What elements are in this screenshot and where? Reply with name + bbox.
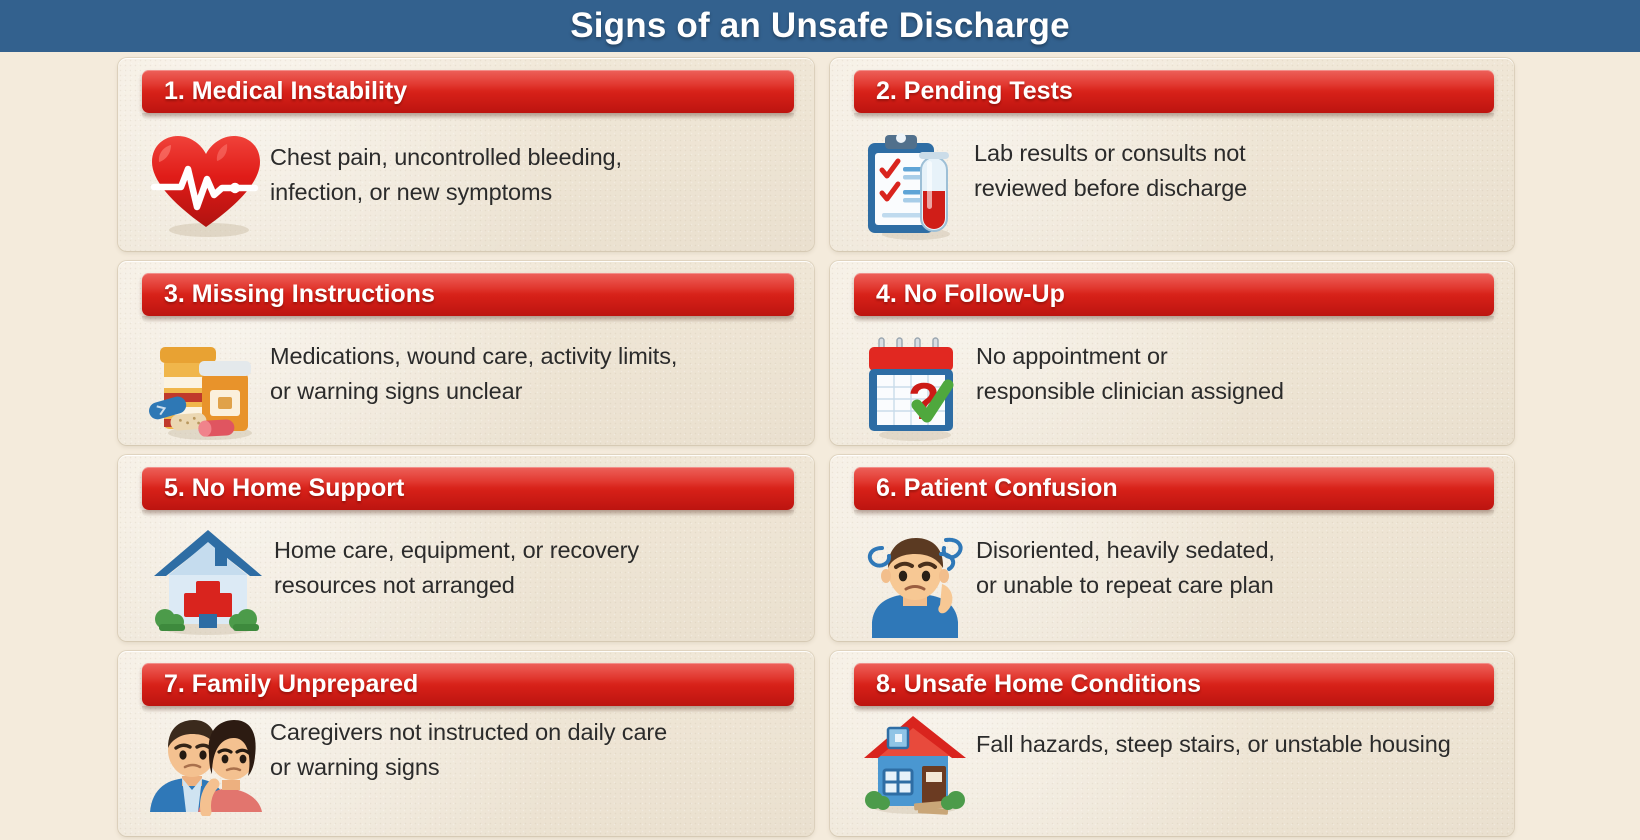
desc-line: responsible clinician assigned: [976, 378, 1284, 404]
banner-shadow: [854, 113, 1494, 120]
card-pending-tests[interactable]: 2. Pending Tests: [830, 58, 1514, 251]
card-title-2: 2. Pending Tests: [854, 77, 1073, 106]
banner-shadow: [142, 316, 794, 323]
desc-line: Disoriented, heavily sedated,: [976, 537, 1275, 563]
house-red-cross-icon: [142, 523, 274, 641]
card-title-4: 4. No Follow-Up: [854, 280, 1065, 309]
card-banner-2: 2. Pending Tests: [854, 70, 1494, 113]
card-title-6: 6. Patient Confusion: [854, 474, 1118, 503]
page-title: Signs of an Unsafe Discharge: [570, 6, 1070, 46]
desc-line: Fall hazards, steep stairs, or unstable …: [976, 731, 1451, 757]
desc-line: Lab results or consults not: [974, 140, 1246, 166]
card-title-8: 8. Unsafe Home Conditions: [854, 670, 1201, 699]
card-title-7: 7. Family Unprepared: [142, 670, 418, 699]
card-wrapper-8: 8. Unsafe Home Conditions: [826, 645, 1514, 840]
card-body-7: Caregivers not instructed on daily care …: [142, 707, 796, 830]
card-title-5: 5. No Home Support: [142, 474, 404, 503]
desc-line: No appointment or: [976, 343, 1168, 369]
card-family-unprepared[interactable]: 7. Family Unprepared: [118, 651, 814, 836]
desc-line: or warning signs: [270, 754, 440, 780]
card-unsafe-home-conditions[interactable]: 8. Unsafe Home Conditions: [830, 651, 1514, 836]
banner-shadow: [142, 113, 794, 120]
card-description-6: Disoriented, heavily sedated, or unable …: [976, 519, 1275, 602]
card-body-5: Home care, equipment, or recovery resour…: [142, 519, 796, 635]
card-banner-1: 1. Medical Instability: [142, 70, 794, 113]
desc-line: Caregivers not instructed on daily care: [270, 719, 667, 745]
card-body-3: Medications, wound care, activity limits…: [142, 325, 796, 439]
infographic-page: Signs of an Unsafe Discharge 1. Medical …: [0, 0, 1640, 840]
page-header: Signs of an Unsafe Discharge: [0, 0, 1640, 52]
card-body-6: Disoriented, heavily sedated, or unable …: [854, 519, 1496, 635]
card-medical-instability[interactable]: 1. Medical Instability: [118, 58, 814, 251]
card-body-2: Lab results or consults not reviewed bef…: [854, 122, 1496, 245]
card-description-3: Medications, wound care, activity limits…: [270, 325, 677, 408]
desc-line: Home care, equipment, or recovery: [274, 537, 639, 563]
card-banner-6: 6. Patient Confusion: [854, 467, 1494, 510]
card-body-8: Fall hazards, steep stairs, or unstable …: [854, 707, 1496, 830]
confused-patient-icon: [854, 523, 976, 641]
banner-shadow: [142, 510, 794, 517]
card-no-home-support[interactable]: 5. No Home Support: [118, 455, 814, 641]
desc-line: reviewed before discharge: [974, 175, 1247, 201]
desc-line: or warning signs unclear: [270, 378, 522, 404]
card-banner-4: 4. No Follow-Up: [854, 273, 1494, 316]
card-banner-7: 7. Family Unprepared: [142, 663, 794, 706]
card-description-4: No appointment or responsible clinician …: [976, 325, 1284, 408]
banner-shadow: [854, 510, 1494, 517]
card-wrapper-1: 1. Medical Instability: [118, 52, 826, 255]
desc-line: infection, or new symptoms: [270, 179, 552, 205]
desc-line: Chest pain, uncontrolled bleeding,: [270, 144, 622, 170]
card-banner-8: 8. Unsafe Home Conditions: [854, 663, 1494, 706]
card-body-4: ? No appointment or responsible clinicia…: [854, 325, 1496, 439]
desc-line: or unable to repeat care plan: [976, 572, 1274, 598]
desc-line: Medications, wound care, activity limits…: [270, 343, 677, 369]
card-description-7: Caregivers not instructed on daily care …: [270, 707, 667, 784]
pill-bottles-icon: [142, 329, 270, 445]
card-title-1: 1. Medical Instability: [142, 77, 407, 106]
card-description-8: Fall hazards, steep stairs, or unstable …: [976, 707, 1451, 762]
card-no-follow-up[interactable]: 4. No Follow-Up: [830, 261, 1514, 445]
card-wrapper-6: 6. Patient Confusion: [826, 449, 1514, 645]
clipboard-test-tube-icon: [854, 126, 974, 244]
card-wrapper-7: 7. Family Unprepared: [118, 645, 826, 840]
card-wrapper-2: 2. Pending Tests: [826, 52, 1514, 255]
card-missing-instructions[interactable]: 3. Missing Instructions: [118, 261, 814, 445]
signs-grid: 1. Medical Instability: [118, 52, 1514, 840]
card-wrapper-3: 3. Missing Instructions: [118, 255, 826, 449]
card-wrapper-5: 5. No Home Support: [118, 449, 826, 645]
heart-ecg-icon: [142, 126, 270, 244]
unsafe-house-icon: [854, 707, 976, 817]
card-banner-5: 5. No Home Support: [142, 467, 794, 510]
desc-line: resources not arranged: [274, 572, 515, 598]
banner-shadow: [854, 316, 1494, 323]
card-banner-3: 3. Missing Instructions: [142, 273, 794, 316]
card-description-5: Home care, equipment, or recovery resour…: [274, 519, 639, 602]
card-body-1: Chest pain, uncontrolled bleeding, infec…: [142, 122, 796, 245]
card-description-1: Chest pain, uncontrolled bleeding, infec…: [270, 122, 622, 209]
card-title-3: 3. Missing Instructions: [142, 280, 435, 309]
caregiver-couple-icon: [142, 707, 270, 817]
card-patient-confusion[interactable]: 6. Patient Confusion: [830, 455, 1514, 641]
card-description-2: Lab results or consults not reviewed bef…: [974, 122, 1247, 205]
calendar-question-check-icon: ?: [854, 329, 976, 445]
card-wrapper-4: 4. No Follow-Up: [826, 255, 1514, 449]
